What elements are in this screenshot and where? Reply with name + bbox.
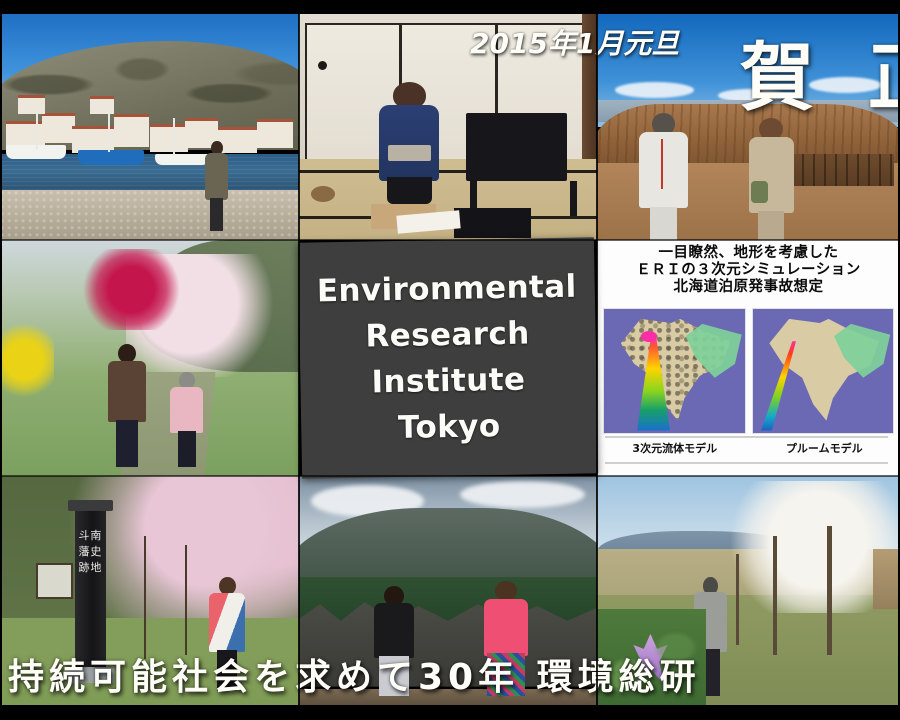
wooden-bowl [311,186,335,202]
door-knob [318,61,327,70]
sunken-hearth [454,208,531,237]
boat [155,154,209,165]
new-year-date: 2015年1月元旦 [470,22,679,62]
information-sign [36,563,73,599]
man-with-camera [639,113,687,240]
frame-bottom [0,705,900,720]
photo-greek-harbour [0,14,299,240]
ruined-wall [791,154,894,186]
forsythia-bush [0,320,54,400]
sim-heading-line2: ＥＲＩの３次元シミュレーション [597,262,900,279]
divider [605,436,888,438]
woman-in-coat [749,118,794,240]
grid-seam-vertical [298,14,300,705]
caption-plume-model: プルームモデル [749,440,900,456]
grid-seam-vertical [596,14,598,705]
grid-seam-horizontal [0,475,900,477]
frame-top [0,0,900,14]
org-line-3: Institute [371,358,526,405]
organization-title-block: Environmental Research Institute Tokyo [298,237,598,478]
cloud [460,481,585,508]
org-line-2: Research [365,311,530,358]
map-plume-model[interactable] [752,308,895,434]
new-year-card: 一目瞭然、地形を考慮した ＥＲＩの３次元シミュレーション 北海道泊原発事故想定 [0,0,900,720]
man-walking [108,344,147,467]
simulation-maps [603,308,894,434]
mast [36,113,38,149]
map-fluid-model[interactable] [603,308,746,434]
blossom-path-scene [0,240,299,476]
photo-spring-blossoms [0,240,299,476]
simulation-panel: 一目瞭然、地形を考慮した ＥＲＩの３次元シミュレーション 北海道泊原発事故想定 [597,240,900,476]
plum-trunk [736,554,739,646]
woman-in-kimono [379,82,439,204]
sim-heading-line3: 北海道泊原発事故想定 [597,279,900,296]
tree-trunk [185,545,187,655]
harbour-scene [0,14,299,240]
org-line-4: Tokyo [398,404,501,450]
org-line-1: Environmental [316,265,576,314]
cloud [615,82,694,98]
caption-fluid-model: 3次元流体モデル [599,440,751,456]
red-plum-tree [78,249,186,329]
tree-trunk [144,536,146,660]
sim-heading-line1: 一目瞭然、地形を考慮した [597,245,900,262]
grid-seam-horizontal [0,239,900,241]
frame-left [0,0,2,720]
mast [173,118,175,156]
quay [0,190,299,240]
woman-walking [170,372,203,466]
harbour-water [0,154,299,195]
farm-shed [873,549,900,609]
monument-inscription: 斗南藩史跡地 [75,528,106,576]
divider [605,462,888,464]
new-year-greeting-kanji: 賀 正 [740,18,900,125]
black-table [466,113,567,181]
simulation-heading: 一目瞭然、地形を考慮した ＥＲＩの３次元シミュレーション 北海道泊原発事故想定 [597,245,900,295]
plum-trunk [827,526,832,654]
plum-trunk [773,536,777,655]
mast [108,109,110,152]
person-standing [203,141,230,231]
blue-boat [78,150,144,166]
